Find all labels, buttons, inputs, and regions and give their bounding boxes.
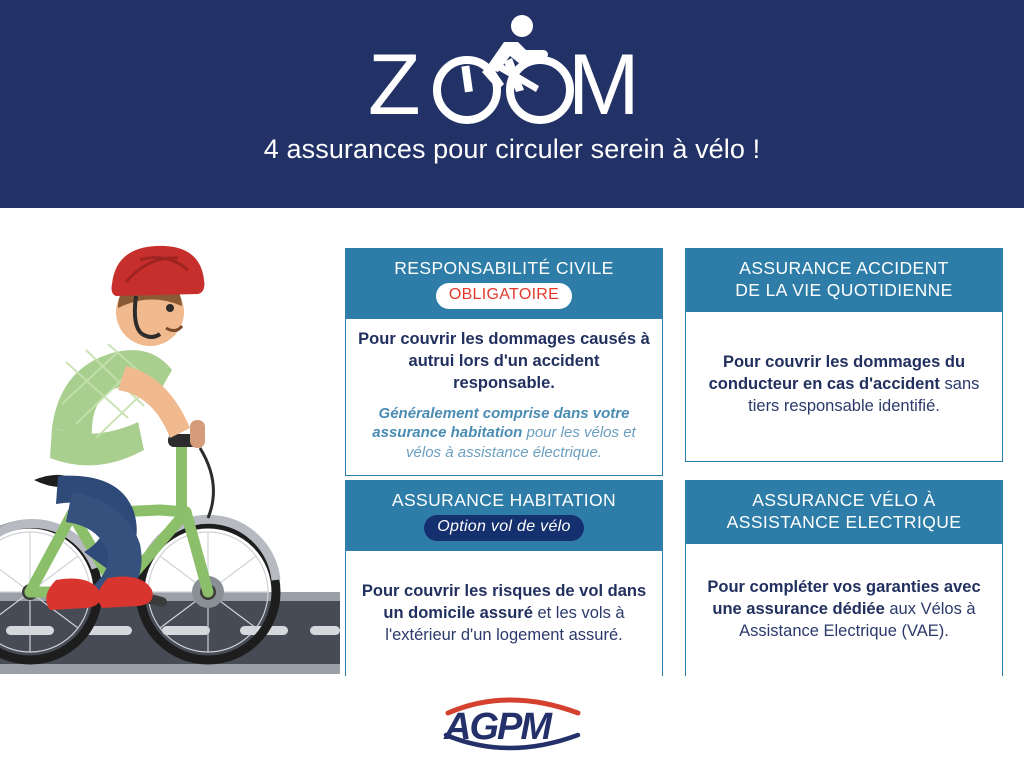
card-assurance-habitation[interactable]: ASSURANCE HABITATION Option vol de vélo … [345, 480, 663, 680]
status-badge: OBLIGATOIRE [436, 283, 572, 308]
card-description: Pour couvrir les dommages du conducteur … [698, 352, 990, 418]
card-title-line2: DE LA VIE QUOTIDIENNE [695, 279, 993, 301]
svg-text:AGPM: AGPM [443, 706, 553, 748]
cyclist-illustration [0, 212, 340, 674]
card-velo-assistance-electrique[interactable]: ASSURANCE VÉLO À ASSISTANCE ELECTRIQUE P… [685, 480, 1003, 680]
card-description: Pour couvrir les dommages causés à autru… [358, 329, 650, 395]
footer: AGPM [0, 676, 1024, 768]
option-badge: Option vol de vélo [424, 515, 583, 540]
card-description: Pour couvrir les risques de vol dans un … [358, 581, 650, 647]
header-banner: Z M [0, 0, 1024, 208]
card-body: Pour compléter vos garanties avec une as… [685, 544, 1003, 680]
svg-text:Z: Z [368, 37, 421, 130]
card-header: ASSURANCE VÉLO À ASSISTANCE ELECTRIQUE [685, 480, 1003, 544]
card-description-bold: Pour couvrir les dommages du conducteur … [709, 353, 965, 393]
cyclist-scene-icon [0, 212, 340, 674]
banner-subtitle: 4 assurances pour circuler serein à vélo… [264, 134, 760, 165]
insurance-cards-grid: RESPONSABILITÉ CIVILE OBLIGATOIRE Pour c… [345, 248, 1005, 680]
card-description-bold: Pour couvrir les dommages causés à autru… [358, 330, 650, 392]
card-title: RESPONSABILITÉ CIVILE [355, 257, 653, 279]
card-body: Pour couvrir les dommages causés à autru… [345, 319, 663, 476]
svg-text:M: M [568, 37, 640, 130]
infographic-page: Z M [0, 0, 1024, 768]
card-body: Pour couvrir les risques de vol dans un … [345, 551, 663, 680]
card-header: ASSURANCE HABITATION Option vol de vélo [345, 480, 663, 551]
card-responsabilite-civile[interactable]: RESPONSABILITÉ CIVILE OBLIGATOIRE Pour c… [345, 248, 663, 462]
card-body: Pour couvrir les dommages du conducteur … [685, 312, 1003, 462]
card-title-line2: ASSISTANCE ELECTRIQUE [695, 511, 993, 533]
card-title-line1: ASSURANCE ACCIDENT [695, 257, 993, 279]
card-accident-vie-quotidienne[interactable]: ASSURANCE ACCIDENT DE LA VIE QUOTIDIENNE… [685, 248, 1003, 462]
card-header: RESPONSABILITÉ CIVILE OBLIGATOIRE [345, 248, 663, 319]
card-note: Généralement comprise dans votre assuran… [358, 404, 650, 463]
card-title-line1: ASSURANCE VÉLO À [695, 489, 993, 511]
card-header: ASSURANCE ACCIDENT DE LA VIE QUOTIDIENNE [685, 248, 1003, 312]
cyclist-on-wheels-icon: Z M [362, 12, 662, 130]
card-title: ASSURANCE HABITATION [355, 489, 653, 511]
card-description: Pour compléter vos garanties avec une as… [698, 577, 990, 643]
zoom-logo: Z M [362, 12, 662, 130]
agpm-logo: AGPM [432, 691, 592, 753]
